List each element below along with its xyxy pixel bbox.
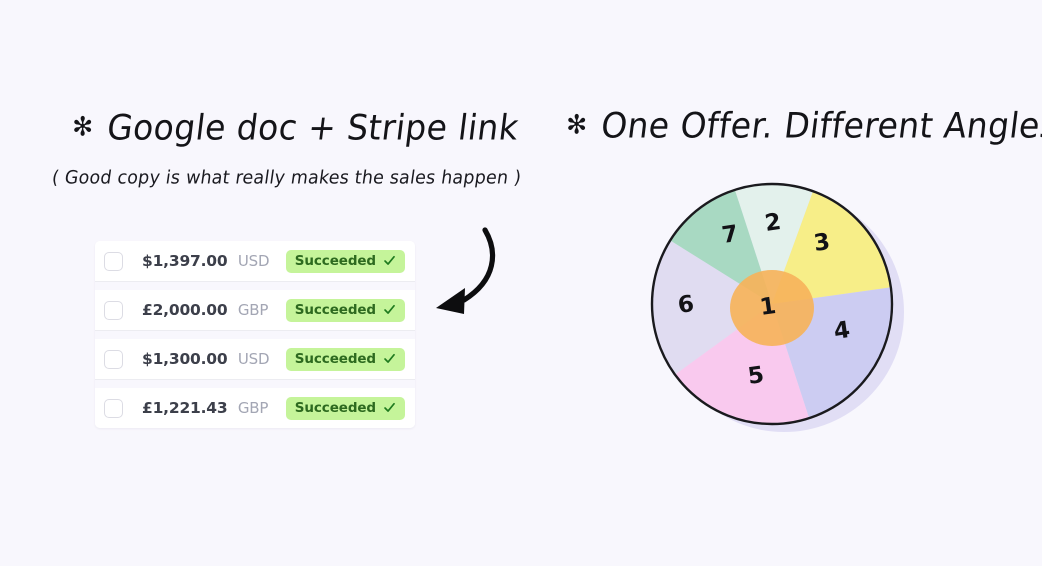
amount-cell: £1,221.43: [142, 399, 234, 417]
table-row[interactable]: £1,221.43 GBP Succeeded: [95, 388, 415, 428]
right-heading: ✻ One Offer. Different Angles.: [563, 105, 1042, 146]
status-badge: Succeeded: [286, 397, 405, 420]
status-label: Succeeded: [295, 351, 376, 367]
left-heading-text: Google doc + Stripe link: [105, 107, 521, 148]
row-separator: [95, 380, 415, 388]
asterisk-icon: ✻: [566, 111, 588, 138]
row-checkbox[interactable]: [104, 301, 123, 320]
left-heading: ✻ Google doc + Stripe link: [69, 107, 521, 148]
status-label: Succeeded: [295, 400, 376, 416]
check-icon: [383, 254, 396, 267]
status-label: Succeeded: [295, 302, 376, 318]
curved-arrow-icon: [424, 222, 520, 326]
row-checkbox[interactable]: [104, 399, 123, 418]
currency-cell: USD: [238, 350, 282, 368]
table-row[interactable]: $1,397.00 USD Succeeded: [95, 241, 415, 282]
left-subheading: ( Good copy is what really makes the sal…: [51, 168, 523, 189]
row-separator: [95, 282, 415, 290]
table-row[interactable]: $1,300.00 USD Succeeded: [95, 339, 415, 380]
currency-cell: GBP: [238, 399, 282, 417]
amount-cell: £2,000.00: [142, 301, 234, 319]
row-checkbox[interactable]: [104, 350, 123, 369]
table-row[interactable]: £2,000.00 GBP Succeeded: [95, 290, 415, 331]
status-badge: Succeeded: [286, 299, 405, 322]
check-icon: [383, 303, 396, 316]
row-separator: [95, 331, 415, 339]
currency-cell: USD: [238, 252, 282, 270]
row-checkbox[interactable]: [104, 252, 123, 271]
amount-cell: $1,397.00: [142, 252, 234, 270]
transaction-list: $1,397.00 USD Succeeded £2,000.00 GBP Su…: [95, 241, 415, 428]
status-label: Succeeded: [295, 253, 376, 269]
wheel-svg: [648, 178, 910, 440]
currency-cell: GBP: [238, 301, 282, 319]
check-icon: [383, 401, 396, 414]
slide-canvas: ✻ Google doc + Stripe link ( Good copy i…: [0, 0, 1042, 566]
asterisk-icon: ✻: [72, 113, 94, 140]
status-badge: Succeeded: [286, 348, 405, 371]
angles-wheel-chart: 7 2 3 4 5 6 1: [648, 178, 910, 440]
amount-cell: $1,300.00: [142, 350, 234, 368]
status-badge: Succeeded: [286, 250, 405, 273]
right-heading-text: One Offer. Different Angles.: [599, 105, 1042, 146]
wheel-center-hub: [730, 270, 814, 346]
check-icon: [383, 352, 396, 365]
